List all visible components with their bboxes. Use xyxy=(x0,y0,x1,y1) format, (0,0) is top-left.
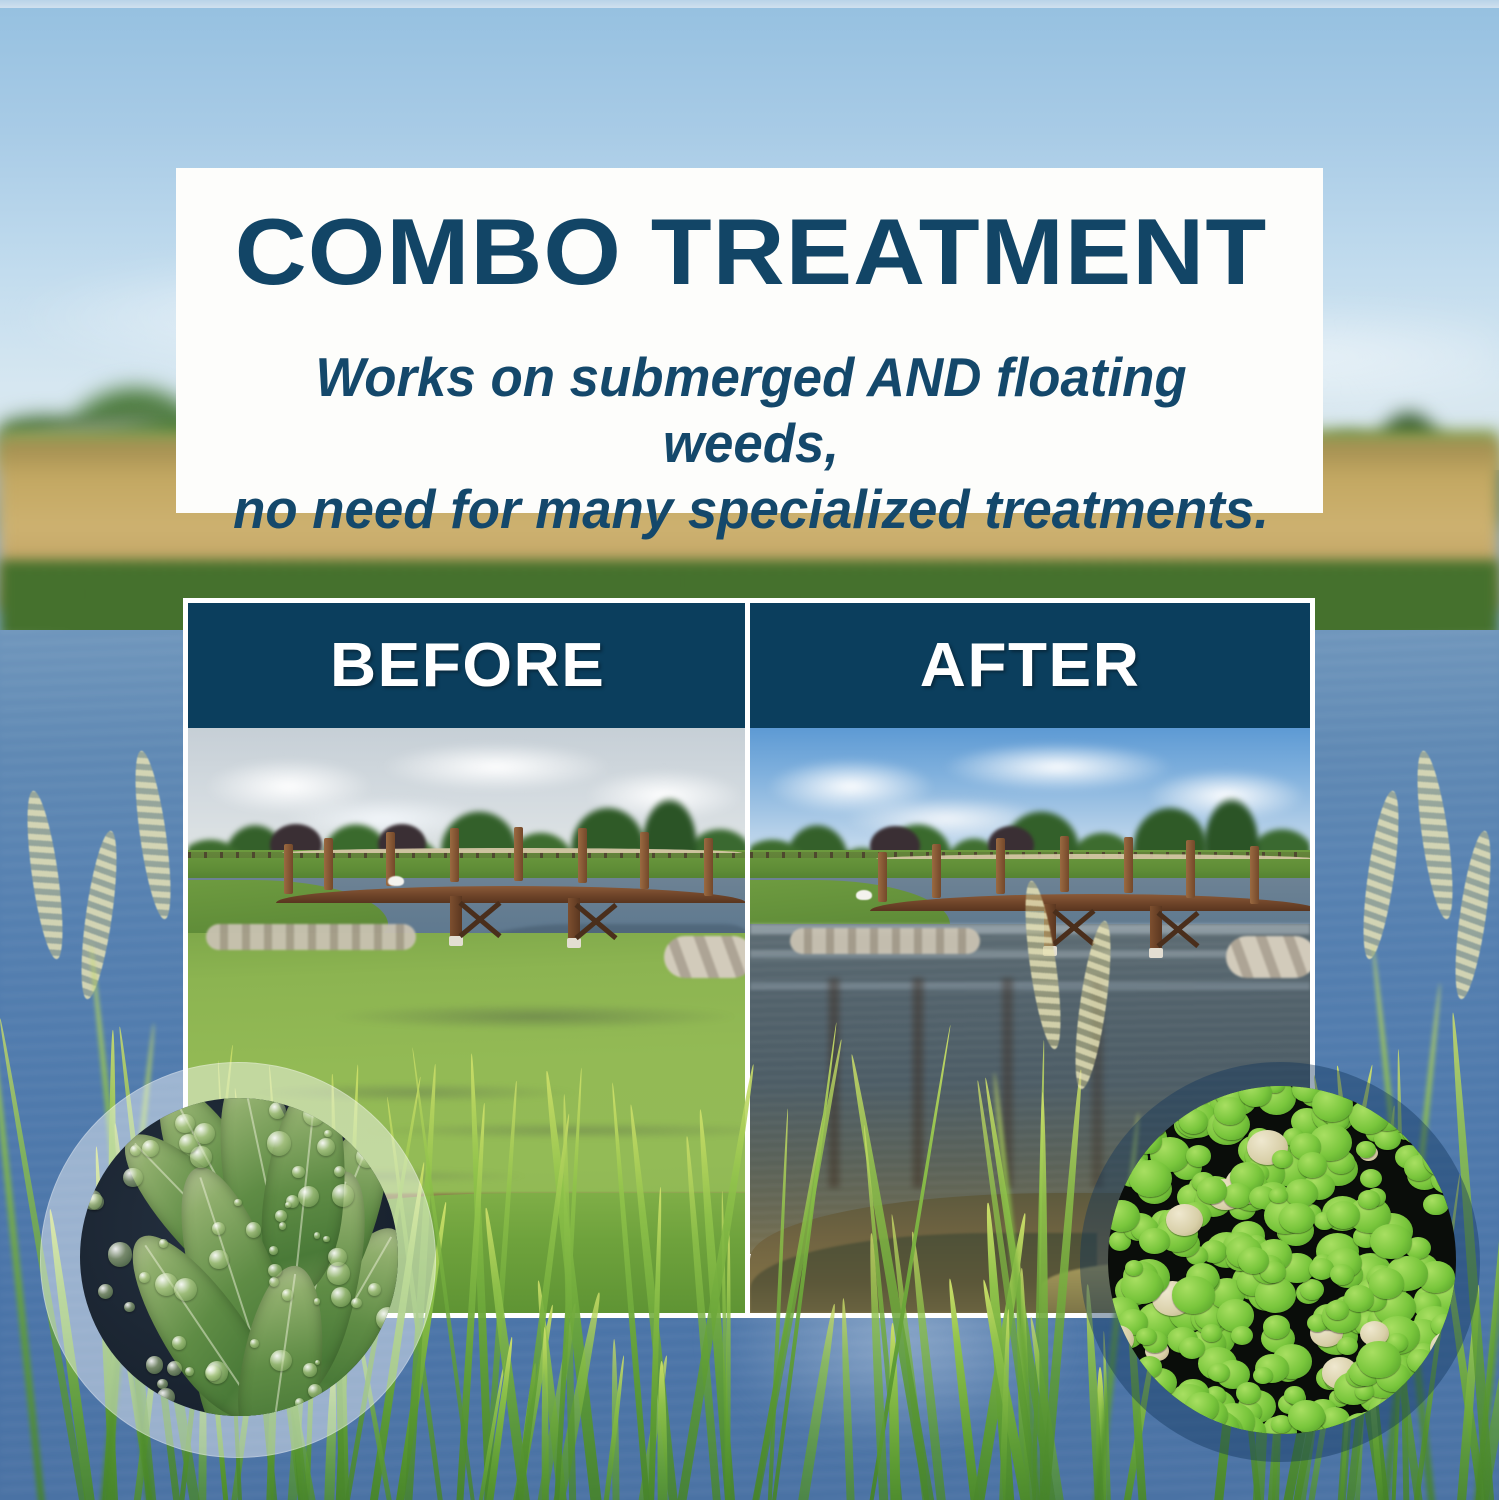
water-droplet xyxy=(167,1361,182,1376)
after-post-1 xyxy=(878,852,887,902)
water-droplet xyxy=(205,1365,221,1381)
before-bridge-deck xyxy=(276,886,746,903)
water-droplet xyxy=(279,1222,286,1229)
before-post-2 xyxy=(324,838,333,890)
duckweed-pad xyxy=(1423,1140,1456,1176)
duckweed-pad xyxy=(1369,1268,1405,1299)
duckweed-pad xyxy=(1185,1392,1219,1422)
duckweed-pad xyxy=(1370,1224,1411,1260)
duckweed-pad xyxy=(1279,1203,1315,1234)
duckweed-inset xyxy=(1108,1086,1456,1434)
duckweed-pad xyxy=(1357,1341,1400,1378)
water-droplet xyxy=(268,1264,281,1277)
water-droplet xyxy=(303,1104,325,1126)
water-droplet xyxy=(275,1210,287,1222)
page-subtitle: Works on submerged AND floating weeds, n… xyxy=(228,344,1274,542)
after-post-3 xyxy=(996,838,1005,894)
water-droplet xyxy=(185,1367,194,1376)
before-post-8 xyxy=(704,838,713,896)
subtitle-line-1: Works on submerged AND floating weeds, xyxy=(228,344,1274,476)
duckweed-pad xyxy=(1288,1400,1325,1432)
water-droplet xyxy=(108,1242,132,1266)
before-header: BEFORE xyxy=(188,603,748,728)
after-post-6 xyxy=(1186,840,1195,898)
after-post-7 xyxy=(1250,846,1259,904)
top-edge-sheen xyxy=(0,0,1499,8)
duckweed-pad xyxy=(1231,1326,1253,1345)
water-droplet xyxy=(175,1114,195,1134)
pondweed-inset xyxy=(80,1098,398,1416)
subtitle-line-2: no need for many specialized treatments. xyxy=(228,476,1274,542)
duckweed-pad xyxy=(1197,1177,1227,1203)
duckweed-pad xyxy=(1377,1416,1399,1434)
water-droplet xyxy=(298,1186,319,1207)
duckweed-pad xyxy=(1110,1372,1145,1402)
water-droplet xyxy=(331,1287,351,1307)
duckweed-pad xyxy=(1129,1160,1172,1197)
water-droplet xyxy=(295,1398,305,1408)
duckweed-pad xyxy=(1272,1150,1292,1167)
water-droplet xyxy=(123,1168,142,1187)
after-bridge-rail xyxy=(876,854,1310,859)
before-post-1 xyxy=(284,844,293,894)
before-post-7 xyxy=(640,832,649,889)
water-droplet xyxy=(98,1284,114,1300)
after-brace-1 xyxy=(1048,902,1100,948)
before-brace-2 xyxy=(570,896,622,942)
water-droplet xyxy=(246,1222,262,1238)
poster-root: COMBO TREATMENT Works on submerged AND f… xyxy=(0,0,1499,1500)
water-droplet xyxy=(179,1134,198,1153)
water-droplet xyxy=(285,1202,290,1207)
before-post-6 xyxy=(578,828,587,883)
before-post-5 xyxy=(514,827,523,881)
duckweed-pad xyxy=(1253,1367,1273,1384)
duckweed-pad xyxy=(1139,1228,1170,1254)
before-bridge-rail xyxy=(282,848,742,853)
water-droplet xyxy=(303,1363,316,1376)
water-droplet xyxy=(172,1336,186,1350)
water-droplet xyxy=(146,1356,163,1373)
water-droplet xyxy=(267,1131,291,1155)
water-droplet xyxy=(292,1166,304,1178)
water-droplet xyxy=(157,1379,167,1389)
water-droplet xyxy=(124,1302,134,1312)
water-droplet xyxy=(379,1327,398,1350)
water-droplet xyxy=(351,1298,362,1309)
after-post-4 xyxy=(1060,836,1069,892)
duckweed-pad xyxy=(1214,1097,1246,1124)
duckweed-pad xyxy=(1423,1194,1448,1216)
duckweed-pad xyxy=(1172,1276,1215,1313)
after-label: AFTER xyxy=(920,630,1141,701)
duckweed-pad xyxy=(1349,1100,1389,1134)
after-header: AFTER xyxy=(750,603,1310,728)
water-droplet xyxy=(269,1246,278,1255)
after-post-2 xyxy=(932,844,941,898)
before-brace-1 xyxy=(454,894,506,940)
water-droplet xyxy=(270,1350,292,1372)
water-droplet xyxy=(139,1272,149,1282)
duckweed-pad xyxy=(1208,1363,1230,1382)
water-droplet xyxy=(332,1184,355,1207)
duckweed-pad xyxy=(1330,1264,1355,1285)
duckweed-pad xyxy=(1126,1100,1170,1138)
water-droplet xyxy=(142,1115,147,1120)
duckweed-pad xyxy=(1356,1141,1376,1158)
water-droplet xyxy=(324,1130,332,1138)
title-panel: COMBO TREATMENT Works on submerged AND f… xyxy=(176,168,1323,513)
before-label: BEFORE xyxy=(330,630,605,701)
duckweed-pad xyxy=(1269,1188,1287,1204)
duckweed-pad xyxy=(1298,1152,1328,1178)
after-brace-2 xyxy=(1152,904,1204,950)
before-post-4 xyxy=(450,828,459,882)
duckweed-pad xyxy=(1358,1190,1379,1208)
water-droplet xyxy=(209,1250,228,1269)
water-droplet xyxy=(314,1232,320,1238)
duckweed-pad xyxy=(1430,1348,1456,1373)
water-droplet xyxy=(368,1283,381,1296)
duckweed-pad xyxy=(1201,1324,1222,1342)
water-droplet xyxy=(142,1140,159,1157)
duckweed-pad xyxy=(1403,1102,1427,1122)
water-droplet xyxy=(374,1165,379,1170)
duckweed-pad xyxy=(1236,1382,1261,1404)
water-droplet xyxy=(282,1289,293,1300)
after-swan xyxy=(856,890,872,900)
page-title: COMBO TREATMENT xyxy=(184,204,1318,300)
water-droplet xyxy=(159,1239,167,1247)
water-droplet xyxy=(130,1145,141,1156)
duckweed-pad xyxy=(1327,1201,1360,1229)
duckweed-pad xyxy=(1400,1393,1425,1414)
before-swan xyxy=(388,876,404,886)
water-droplet xyxy=(308,1384,322,1398)
water-droplet xyxy=(83,1190,102,1209)
duckweed-pad xyxy=(1238,1247,1269,1274)
water-droplet xyxy=(269,1102,286,1119)
water-droplet xyxy=(323,1236,330,1243)
water-droplet xyxy=(314,1298,321,1305)
after-post-5 xyxy=(1124,837,1133,893)
water-droplet xyxy=(250,1339,259,1348)
